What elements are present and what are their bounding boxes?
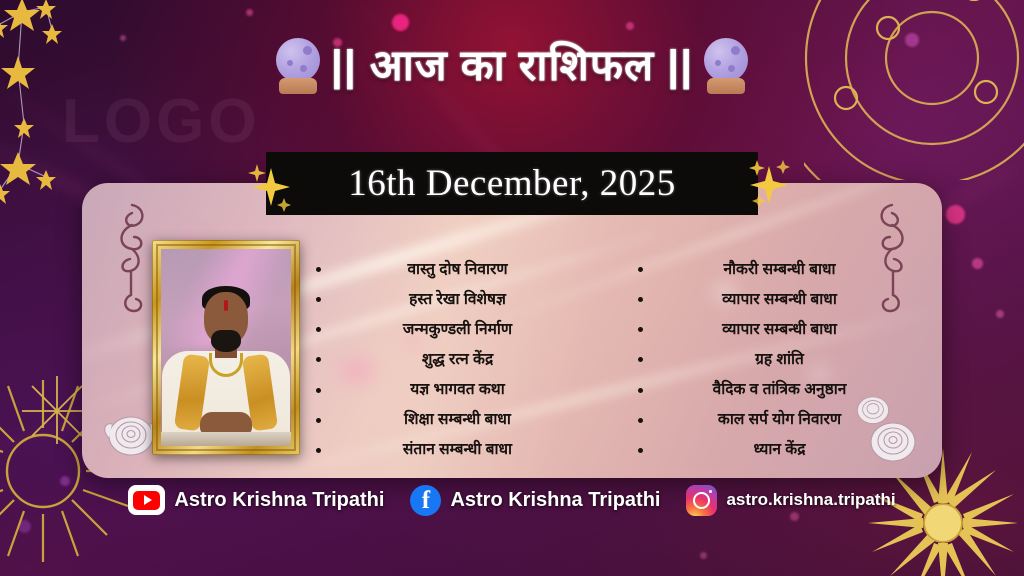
list-item: नौकरी सम्बन्धी बाधा (638, 262, 924, 278)
list-item: काल सर्प योग निवारण (638, 412, 924, 428)
date-text: 16th December, 2025 (348, 162, 676, 205)
service-label: नौकरी सम्बन्धी बाधा (649, 262, 924, 278)
services-left-column: वास्तु दोष निवारण हस्त रेखा विशेषज्ञ जन्… (316, 262, 602, 458)
sparkle-icon (248, 152, 294, 215)
service-label: ध्यान केंद्र (649, 442, 924, 458)
service-label: संतान सम्बन्धी बाधा (327, 442, 602, 458)
bullet-icon (638, 297, 643, 302)
ornament-flourish-icon (110, 199, 154, 317)
service-label: काल सर्प योग निवारण (649, 412, 924, 428)
list-item: व्यापार सम्बन्धी बाधा (638, 292, 924, 308)
astrologer-photo (161, 249, 291, 446)
horoscope-poster: LOGO (0, 0, 1024, 576)
instagram-handle[interactable]: astro.krishna.tripathi (686, 485, 895, 516)
bullet-icon (638, 327, 643, 332)
list-item: वास्तु दोष निवारण (316, 262, 602, 278)
list-item: यज्ञ भागवत कथा (316, 382, 602, 398)
sparkle-icon (746, 152, 792, 215)
youtube-icon[interactable] (128, 485, 165, 515)
bullet-icon (638, 388, 643, 393)
list-item: वैदिक व तांत्रिक अनुष्ठान (638, 382, 924, 398)
service-label: व्यापार सम्बन्धी बाधा (649, 322, 924, 338)
service-label: हस्त रेखा विशेषज्ञ (327, 292, 602, 308)
list-item: ग्रह शांति (638, 352, 924, 368)
bullet-icon (638, 448, 643, 453)
bullet-icon (316, 388, 321, 393)
service-label: वास्तु दोष निवारण (327, 262, 602, 278)
service-label: यज्ञ भागवत कथा (327, 382, 602, 398)
logo-watermark: LOGO (62, 86, 261, 157)
services-lists: वास्तु दोष निवारण हस्त रेखा विशेषज्ञ जन्… (316, 262, 924, 458)
bullet-icon (638, 267, 643, 272)
bullet-icon (316, 297, 321, 302)
list-item: संतान सम्बन्धी बाधा (316, 442, 602, 458)
crystal-ball-icon (701, 38, 751, 94)
date-banner: 16th December, 2025 (266, 152, 758, 215)
service-label: ग्रह शांति (649, 352, 924, 368)
poster-title-row: || आज का राशिफल || (0, 38, 1024, 94)
facebook-label: Astro Krishna Tripathi (450, 489, 660, 512)
list-item: जन्मकुण्डली निर्माण (316, 322, 602, 338)
list-item: शुद्ध रत्न केंद्र (316, 352, 602, 368)
bullet-icon (316, 327, 321, 332)
bullet-icon (316, 267, 321, 272)
service-label: व्यापार सम्बन्धी बाधा (649, 292, 924, 308)
facebook-icon[interactable]: f (410, 485, 441, 516)
bullet-icon (638, 357, 643, 362)
list-item: व्यापार सम्बन्धी बाधा (638, 322, 924, 338)
bullet-icon (316, 418, 321, 423)
bullet-icon (316, 357, 321, 362)
crystal-ball-icon (273, 38, 323, 94)
youtube-handle[interactable]: Astro Krishna Tripathi (128, 485, 384, 515)
instagram-icon[interactable] (686, 485, 717, 516)
bullet-icon (316, 448, 321, 453)
youtube-label: Astro Krishna Tripathi (174, 489, 384, 512)
list-item: हस्त रेखा विशेषज्ञ (316, 292, 602, 308)
list-item: शिक्षा सम्बन्धी बाधा (316, 412, 602, 428)
astrologer-portrait-frame (152, 240, 300, 455)
page-title: || आज का राशिफल || (331, 45, 693, 88)
service-label: शिक्षा सम्बन्धी बाधा (327, 412, 602, 428)
service-label: जन्मकुण्डली निर्माण (327, 322, 602, 338)
service-label: शुद्ध रत्न केंद्र (327, 352, 602, 368)
facebook-handle[interactable]: f Astro Krishna Tripathi (410, 485, 660, 516)
instagram-label: astro.krishna.tripathi (726, 490, 895, 510)
bullet-icon (638, 418, 643, 423)
service-label: वैदिक व तांत्रिक अनुष्ठान (649, 382, 924, 398)
list-item: ध्यान केंद्र (638, 442, 924, 458)
services-right-column: नौकरी सम्बन्धी बाधा व्यापार सम्बन्धी बाध… (638, 262, 924, 458)
social-footer: Astro Krishna Tripathi f Astro Krishna T… (0, 480, 1024, 520)
